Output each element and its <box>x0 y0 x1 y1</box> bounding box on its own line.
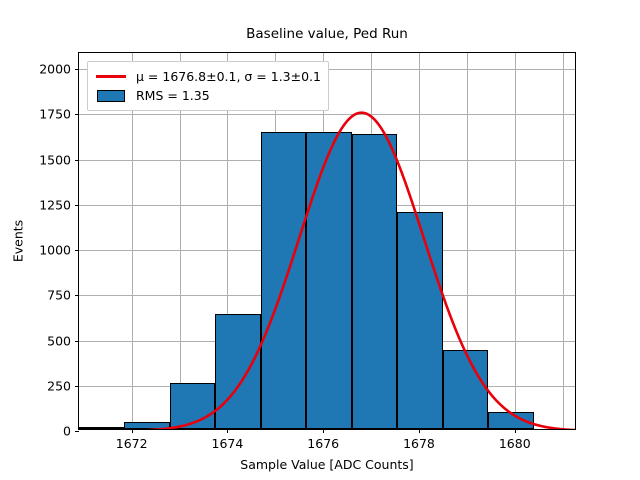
x-tick-mark <box>132 429 133 433</box>
legend-patch-swatch <box>94 90 128 102</box>
legend-item-fit: μ = 1676.8±0.1, σ = 1.3±0.1 <box>94 67 321 86</box>
x-tick-mark <box>419 429 420 433</box>
x-axis-label: Sample Value [ADC Counts] <box>78 457 576 472</box>
x-tick-mark <box>227 429 228 433</box>
x-tick-label: 1672 <box>116 436 148 451</box>
y-tick-label: 1250 <box>39 197 71 212</box>
x-tick-label: 1680 <box>499 436 531 451</box>
y-tick-label: 0 <box>63 424 71 439</box>
y-tick-label: 1000 <box>39 243 71 258</box>
y-tick-label: 500 <box>47 333 71 348</box>
gaussian-fit-path <box>79 113 575 429</box>
y-tick-label: 250 <box>47 378 71 393</box>
y-tick-mark <box>75 431 79 432</box>
legend-label-fit: μ = 1676.8±0.1, σ = 1.3±0.1 <box>136 69 321 84</box>
legend: μ = 1676.8±0.1, σ = 1.3±0.1 RMS = 1.35 <box>87 61 329 111</box>
x-tick-label: 1676 <box>307 436 339 451</box>
y-axis-label: Events <box>11 220 26 262</box>
y-tick-label: 1750 <box>39 107 71 122</box>
plot-axes: 025050075010001250150017502000 167216741… <box>78 52 576 430</box>
x-tick-mark <box>515 429 516 433</box>
legend-item-rms: RMS = 1.35 <box>94 86 321 105</box>
y-axis-label-wrapper: Events <box>18 0 19 480</box>
x-tick-mark <box>323 429 324 433</box>
y-tick-label: 2000 <box>39 62 71 77</box>
x-tick-label: 1678 <box>403 436 435 451</box>
y-tick-label: 750 <box>47 288 71 303</box>
figure: Baseline value, Ped Run Events 025050075… <box>0 0 640 480</box>
legend-label-rms: RMS = 1.35 <box>136 88 210 103</box>
chart-title: Baseline value, Ped Run <box>78 26 576 42</box>
x-tick-label: 1674 <box>212 436 244 451</box>
y-tick-label: 1500 <box>39 152 71 167</box>
legend-line-swatch <box>94 75 128 78</box>
